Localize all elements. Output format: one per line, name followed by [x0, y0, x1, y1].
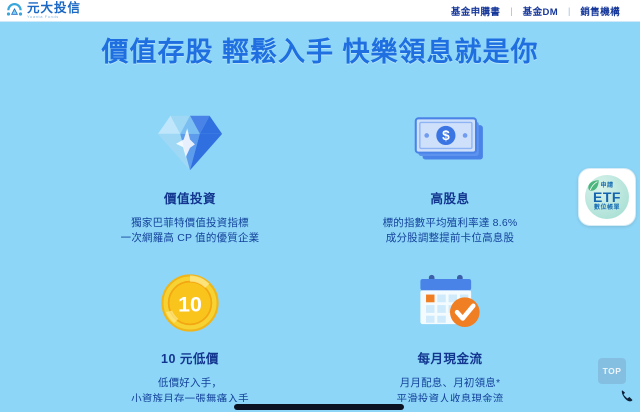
feature-card-low-price: 10 10 元低價 低價好入手， 小資族月存一張無痛入手 — [60, 268, 320, 406]
feature-desc-line: 成分股調整提前卡位高息股 — [383, 231, 518, 246]
feature-desc-line: 獨家巴菲特價值投資指標 — [121, 216, 260, 231]
diamond-icon — [155, 108, 225, 178]
feature-desc-line: 一次網羅高 CP 值的優質企業 — [121, 231, 260, 246]
feature-desc-line: 標的指數平均殖利率達 8.6% — [383, 216, 518, 231]
etf-badge-circle: 申請 ETF 數位帳單 — [585, 175, 629, 219]
nav-item-fund-application[interactable]: 基金申購書 — [441, 4, 511, 18]
svg-text:10: 10 — [178, 293, 202, 317]
feature-description: 標的指數平均殖利率達 8.6% 成分股調整提前卡位高息股 — [383, 216, 518, 246]
brand-text: 元大投信 Yuanta Funds — [27, 2, 81, 20]
etf-badge-bottom-label: 數位帳單 — [594, 205, 620, 211]
yuanta-logo-icon — [6, 2, 23, 19]
svg-text:$: $ — [442, 128, 450, 143]
calendar-check-icon — [413, 268, 487, 338]
feature-desc-line: 低價好入手， — [131, 376, 249, 391]
brand-logo[interactable]: 元大投信 Yuanta Funds — [0, 2, 81, 20]
feature-desc-line: 月月配息、月初領息* — [397, 376, 504, 391]
page-root: 元大投信 Yuanta Funds 基金申購書 | 基金DM | 銷售機構 價值… — [0, 0, 640, 412]
feature-card-high-dividend: $ 高股息 標的指數平均殖利率達 8.6% 成分股調整提前卡位高息股 — [320, 108, 580, 246]
etf-digital-statement-badge[interactable]: 申請 ETF 數位帳單 — [578, 168, 636, 226]
feature-title: 每月現金流 — [417, 348, 482, 367]
brand-name-cn: 元大投信 — [27, 2, 81, 15]
feature-grid: 價值投資 獨家巴菲特價值投資指標 一次網羅高 CP 值的優質企業 $ — [60, 108, 580, 407]
feature-card-value-investing: 價值投資 獨家巴菲特價值投資指標 一次網羅高 CP 值的優質企業 — [60, 108, 320, 246]
horizontal-scrollbar-track[interactable] — [0, 402, 640, 412]
horizontal-scrollbar-thumb[interactable] — [234, 404, 404, 410]
feature-card-monthly-cashflow: 每月現金流 月月配息、月初領息* 平滑投資人收息現金流 — [320, 268, 580, 406]
nav-item-fund-dm[interactable]: 基金DM — [513, 4, 568, 18]
nav-item-sales-institutions[interactable]: 銷售機構 — [570, 4, 630, 18]
main-nav: 基金申購書 | 基金DM | 銷售機構 — [441, 4, 640, 18]
brand-name-en: Yuanta Funds — [27, 15, 81, 19]
banknote-icon: $ — [413, 108, 487, 178]
page-title: 價值存股 輕鬆入手 快樂領息就是你 — [0, 30, 640, 69]
feature-description: 獨家巴菲特價值投資指標 一次網羅高 CP 值的優質企業 — [121, 216, 260, 246]
feature-title: 10 元低價 — [161, 348, 219, 367]
feature-title: 價值投資 — [164, 188, 216, 207]
scroll-to-top-button[interactable]: TOP — [598, 358, 626, 384]
gold-coin-icon: 10 — [159, 268, 221, 338]
feature-title: 高股息 — [430, 188, 469, 207]
site-header: 元大投信 Yuanta Funds 基金申購書 | 基金DM | 銷售機構 — [0, 0, 640, 22]
leaf-icon — [587, 179, 600, 196]
